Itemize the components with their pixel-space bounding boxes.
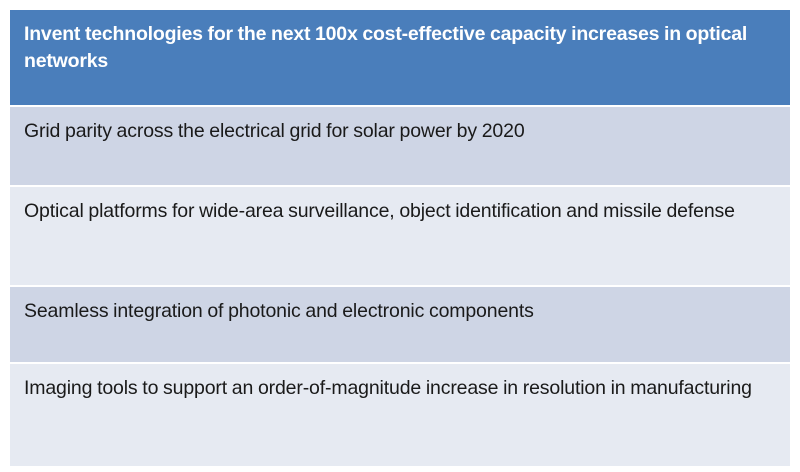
table-row: Optical platforms for wide-area surveill… xyxy=(10,187,790,285)
table-header-row: Invent technologies for the next 100x co… xyxy=(10,10,790,105)
table-row: Grid parity across the electrical grid f… xyxy=(10,107,790,185)
goals-table: Invent technologies for the next 100x co… xyxy=(10,10,790,466)
table-header-text: Invent technologies for the next 100x co… xyxy=(24,21,777,75)
table-row-text: Imaging tools to support an order-of-mag… xyxy=(24,375,777,402)
table-row: Seamless integration of photonic and ele… xyxy=(10,287,790,362)
table-row-text: Seamless integration of photonic and ele… xyxy=(24,298,777,325)
table-row-text: Grid parity across the electrical grid f… xyxy=(24,118,777,145)
page-root: Invent technologies for the next 100x co… xyxy=(0,0,800,472)
table-row: Imaging tools to support an order-of-mag… xyxy=(10,364,790,466)
table-row-text: Optical platforms for wide-area surveill… xyxy=(24,198,777,225)
